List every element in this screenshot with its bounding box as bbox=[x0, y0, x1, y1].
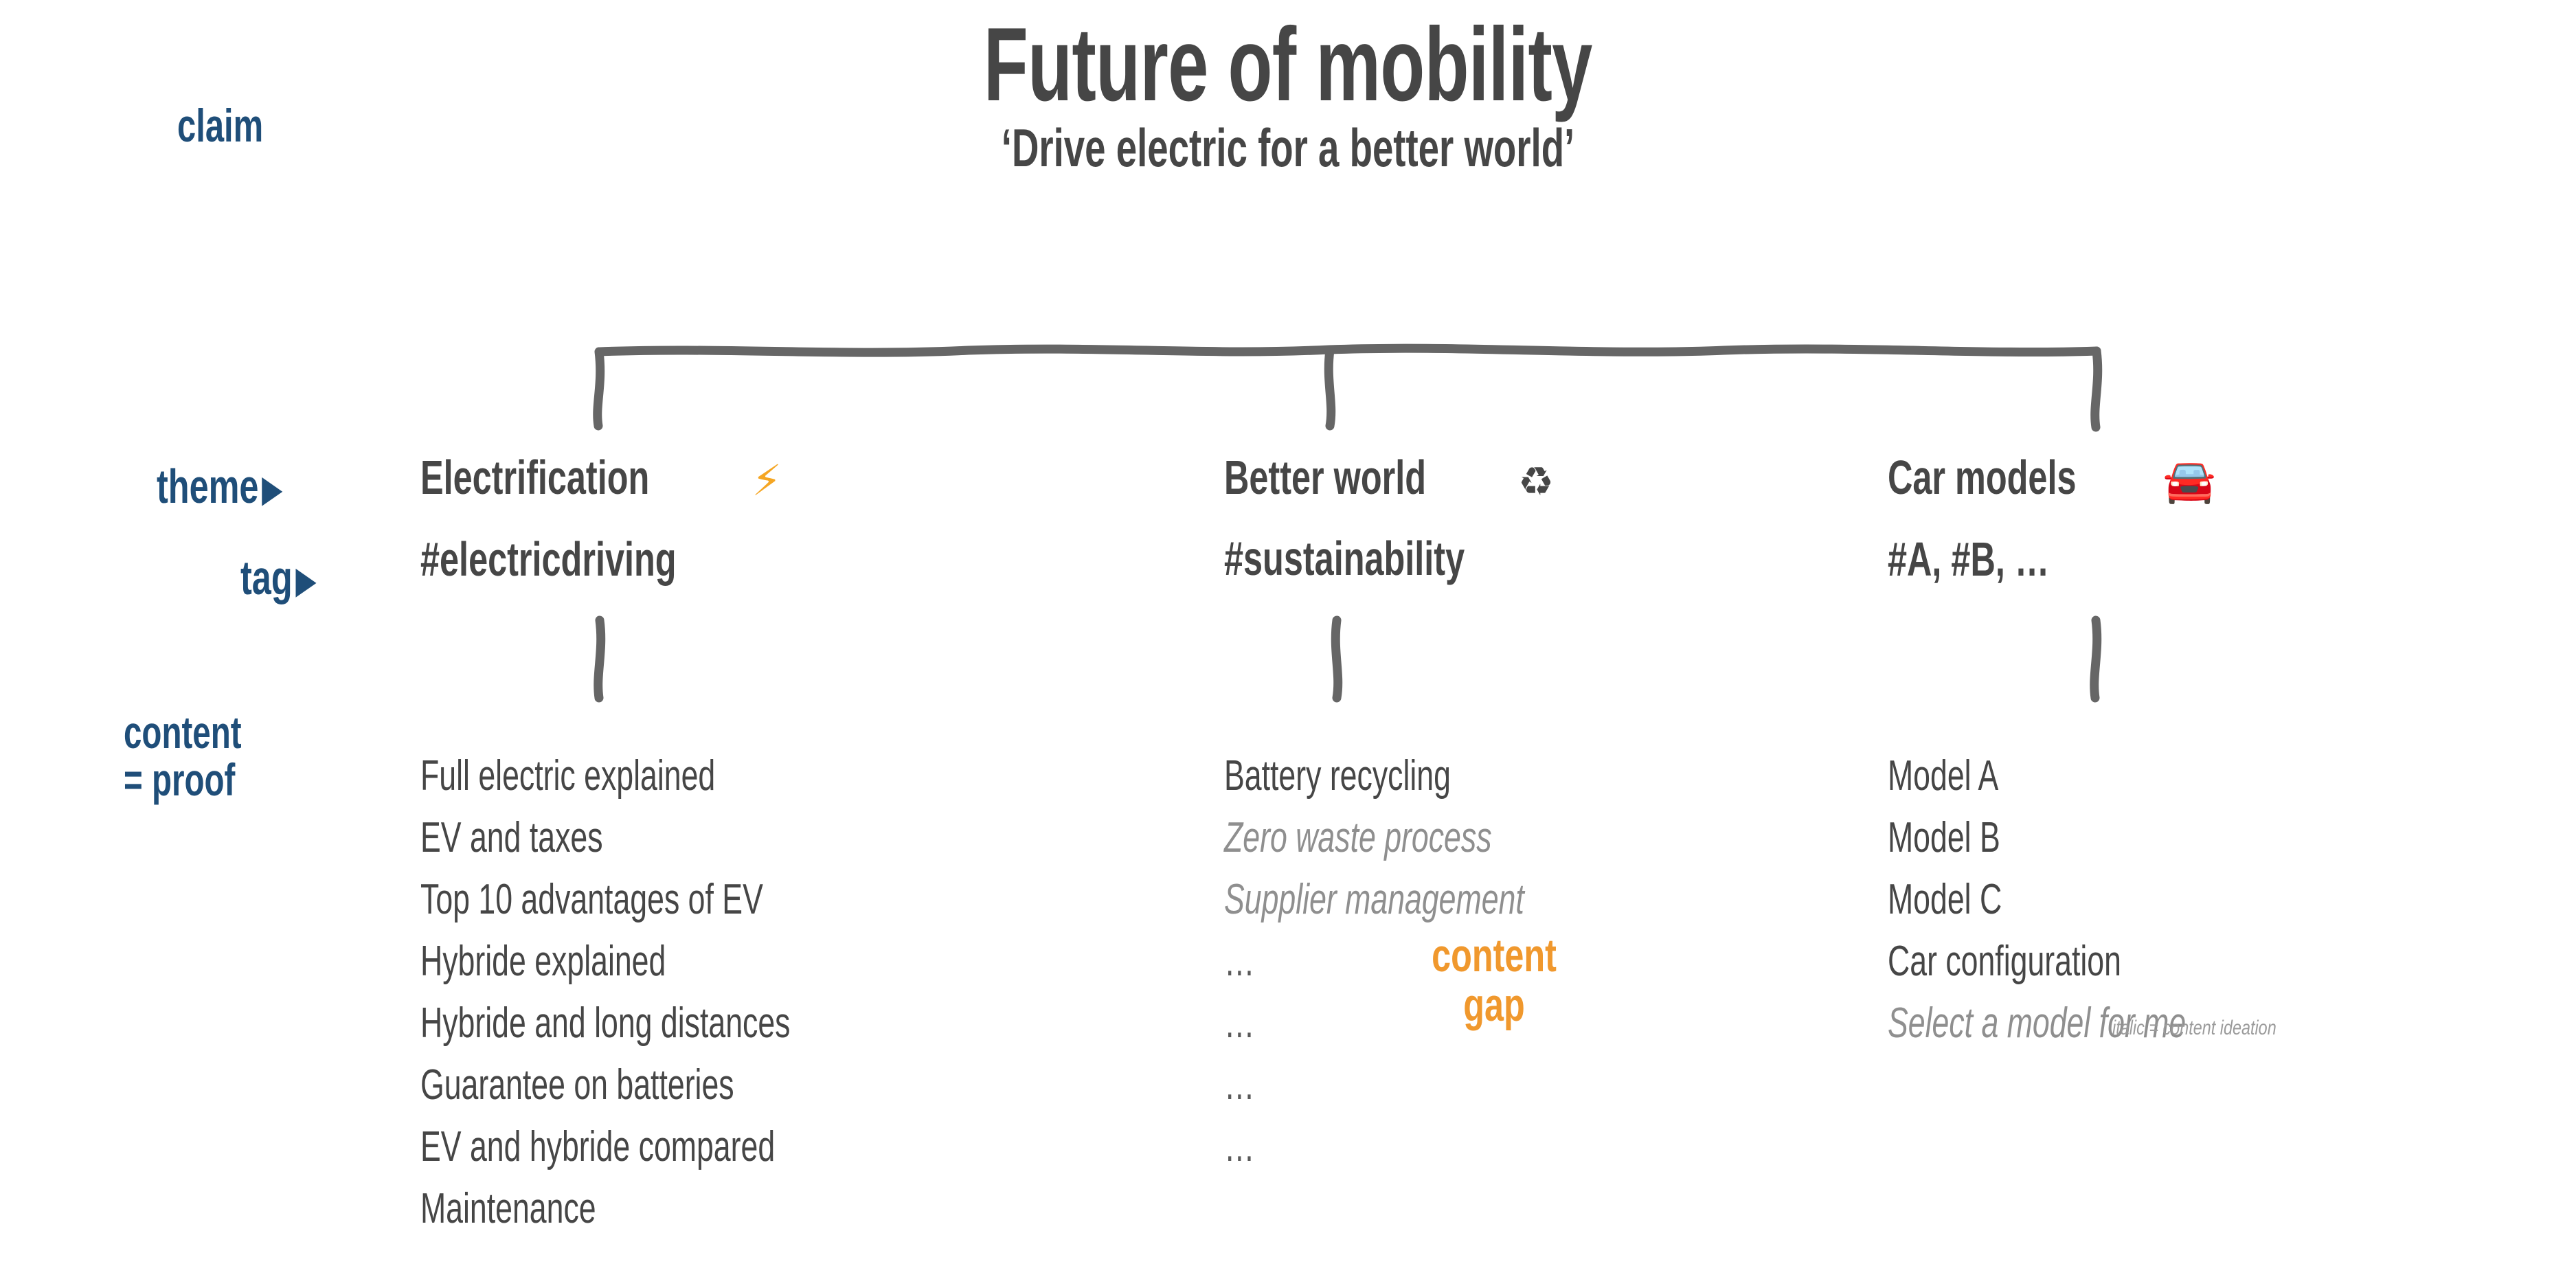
list-item[interactable]: Model B bbox=[1888, 807, 2302, 869]
list-item[interactable]: Maintenance bbox=[420, 1178, 934, 1240]
list-item-label: Guarantee on batteries bbox=[420, 1054, 734, 1116]
theme-heading-text: Electrification bbox=[420, 453, 649, 501]
row-label-tag: tag▶ bbox=[240, 553, 317, 603]
triangle-right-icon: ▶ bbox=[258, 466, 282, 510]
content-list: Model A Model B Model C Car configuratio… bbox=[1888, 745, 2302, 1054]
bracket-drop-middle bbox=[1329, 350, 1331, 426]
list-item[interactable]: Zero waste process bbox=[1224, 807, 1641, 869]
triangle-right-icon: ▶ bbox=[293, 558, 317, 602]
row-label-claim: claim bbox=[177, 102, 263, 150]
list-item-label: … bbox=[1224, 1054, 1256, 1116]
list-item-label: Full electric explained bbox=[420, 745, 715, 807]
list-item-label: Hybride explained bbox=[420, 931, 666, 993]
list-item[interactable]: Full electric explained bbox=[420, 745, 934, 807]
page-title: Future of mobility bbox=[984, 12, 1592, 117]
theme-heading: Electrification ⚡ bbox=[420, 453, 1217, 502]
legend-note: italic = content ideation bbox=[2112, 1017, 2276, 1039]
list-item-label: EV and taxes bbox=[420, 807, 603, 869]
list-item[interactable]: Model A bbox=[1888, 745, 2302, 807]
list-item-placeholder: … bbox=[1224, 1054, 1641, 1116]
tag-heading: #A, #B, … bbox=[1888, 535, 2575, 583]
theme-heading-text: Better world bbox=[1224, 453, 1426, 501]
list-item-label: Hybride and long distances bbox=[420, 993, 790, 1054]
list-item[interactable]: Battery recycling bbox=[1224, 745, 1641, 807]
tag-heading-text: #electricdriving bbox=[420, 535, 677, 583]
list-item-placeholder: … bbox=[1224, 1116, 1641, 1178]
list-item-label: Supplier management bbox=[1224, 869, 1524, 931]
list-item-label: … bbox=[1224, 931, 1256, 993]
tag-heading: #electricdriving bbox=[420, 535, 1217, 583]
theme-column-electrification: Electrification ⚡ #electricdriving Full … bbox=[420, 453, 1217, 583]
list-item[interactable]: Top 10 advantages of EV bbox=[420, 869, 934, 931]
list-item[interactable]: Car configuration bbox=[1888, 931, 2302, 993]
list-item[interactable]: Hybride and long distances bbox=[420, 993, 934, 1054]
list-item-label: Model C bbox=[1888, 869, 2002, 931]
row-label-theme-text: theme bbox=[157, 460, 258, 513]
high-voltage-icon: ⚡ bbox=[752, 460, 782, 502]
list-item[interactable]: Model C bbox=[1888, 869, 2302, 931]
stub-column-3 bbox=[2094, 620, 2097, 698]
list-item[interactable]: EV and hybride compared bbox=[420, 1116, 934, 1178]
list-item-label: … bbox=[1224, 993, 1256, 1054]
stub-column-2 bbox=[1335, 620, 1337, 698]
list-item-label: Maintenance bbox=[420, 1178, 596, 1240]
theme-column-car-models: Car models 🚘 #A, #B, … Model A Model B M… bbox=[1888, 453, 2575, 583]
row-label-claim-text: claim bbox=[177, 100, 263, 152]
row-label-content-text: content bbox=[124, 707, 242, 758]
row-label-proof-text: = proof bbox=[124, 756, 242, 804]
list-item-label: Top 10 advantages of EV bbox=[420, 869, 763, 931]
list-item-label: Zero waste process bbox=[1224, 807, 1492, 869]
list-item-label: … bbox=[1224, 1116, 1256, 1178]
theme-heading: Car models 🚘 bbox=[1888, 453, 2575, 502]
stub-column-1 bbox=[598, 620, 601, 698]
row-label-tag-text: tag bbox=[240, 551, 293, 604]
theme-heading-text: Car models bbox=[1888, 453, 2077, 501]
content-gap-line2: gap bbox=[1410, 980, 1578, 1030]
tag-heading-text: #A, #B, … bbox=[1888, 535, 2049, 583]
row-label-content-proof: content = proof bbox=[124, 709, 242, 803]
recycling-icon: ♻ bbox=[1518, 462, 1554, 501]
row-label-theme: theme▶ bbox=[157, 462, 282, 512]
slide-canvas: Future of mobility ‘Drive electric for a… bbox=[0, 0, 2576, 1279]
content-list: Full electric explained EV and taxes Top… bbox=[420, 745, 934, 1240]
car-icon: 🚘 bbox=[2163, 460, 2216, 502]
list-item-label: Model A bbox=[1888, 745, 1998, 807]
tag-heading-text: #sustainability bbox=[1224, 534, 1465, 582]
bracket-drop-left bbox=[598, 352, 600, 426]
list-item[interactable]: Hybride explained bbox=[420, 931, 934, 993]
list-item-label: Battery recycling bbox=[1224, 745, 1451, 807]
content-gap-line1: content bbox=[1410, 931, 1578, 980]
list-item-label: Model B bbox=[1888, 807, 2000, 869]
list-item[interactable]: Guarantee on batteries bbox=[420, 1054, 934, 1116]
list-item[interactable]: EV and taxes bbox=[420, 807, 934, 869]
list-item-label: Car configuration bbox=[1888, 931, 2121, 993]
page-subtitle: ‘Drive electric for a better world’ bbox=[387, 121, 2190, 174]
content-gap-callout: content gap bbox=[1381, 931, 1607, 1030]
title-block: Future of mobility ‘Drive electric for a… bbox=[0, 12, 2576, 174]
list-item-label: EV and hybride compared bbox=[420, 1116, 775, 1178]
bracket-horizontal-spine bbox=[600, 348, 2097, 352]
list-item[interactable]: Supplier management bbox=[1224, 869, 1641, 931]
bracket-drop-right bbox=[2095, 351, 2098, 427]
